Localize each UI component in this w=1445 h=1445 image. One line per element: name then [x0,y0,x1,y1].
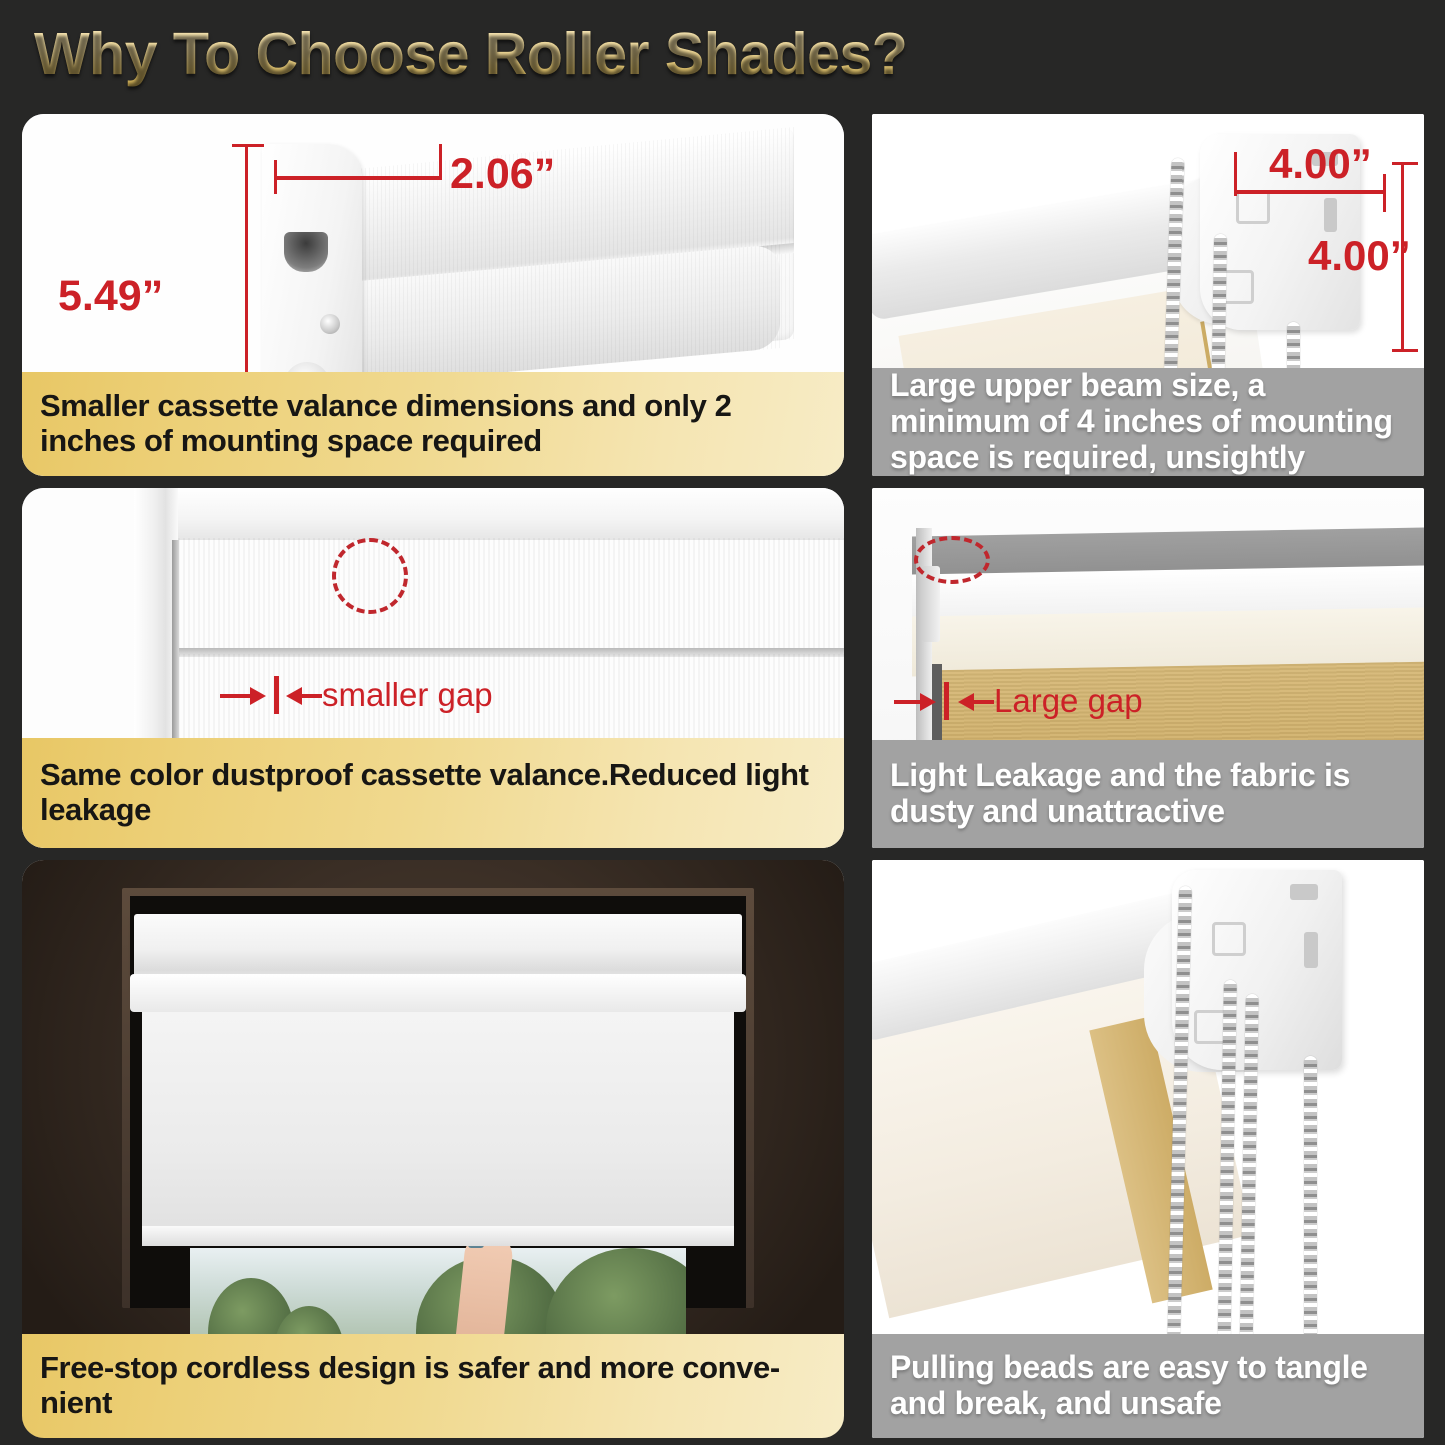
cassette-valance-lip [130,974,746,1012]
width-dim-tick-left [1234,152,1237,196]
shade-valance [178,538,844,654]
width-dimension-label: 2.06” [450,150,555,199]
panel-large-upper-beam: 4.00” 4.00” Large upper beam size, a min… [872,114,1424,476]
bracket-slot-icon [284,232,328,272]
screw-icon [320,314,340,334]
window-frame-top [134,488,844,540]
window-recess [130,896,746,1308]
panel-dustproof-valance: smaller gap Same color dustproof cassett… [22,488,844,848]
height-dimension-label: 5.49” [58,272,163,321]
shade-fabric [142,1012,734,1242]
panel-caption-text: Smaller cassette valance dimensions and … [40,389,828,458]
bracket-notch-icon [1290,884,1318,900]
width-dim-tick-right [439,144,442,180]
panel-caption-bar: Free-stop cordless design is safer and m… [22,1334,844,1438]
bracket-symbol-icon [1236,190,1270,224]
panel-pulling-beads: Pulling beads are easy to tangle and bre… [872,860,1424,1438]
gap-callout-label: Large gap [994,682,1143,720]
gap-arrow-stem-left [220,694,252,698]
gap-arrow-stem-right [972,700,994,704]
height-dim-tick-top [1392,162,1418,165]
bracket-slot-icon [1324,198,1337,232]
bracket-slot-icon [1304,932,1318,968]
gap-highlight-circle [914,536,990,584]
width-dimension-label: 4.00” [1269,140,1372,188]
width-dim-line [274,176,442,180]
panel-cordless-design: Free-stop cordless design is safer and m… [22,860,844,1438]
comparison-grid: 2.06” 5.49” Smaller cassette valance dim… [0,108,1445,1445]
gap-callout-label: smaller gap [322,676,493,714]
panel-caption-text: Same color dustproof cassette valance.Re… [40,758,828,827]
height-dim-tick-bottom [1392,349,1418,352]
width-dim-tick-left [274,160,277,194]
panel-caption-text: Light Leakage and the fabric is dusty an… [890,758,1408,830]
shade-hem-bar [142,1226,734,1246]
page-header: Why To Choose Roller Shades? Why To Choo… [0,0,1445,108]
panel-cassette-dimensions: 2.06” 5.49” Smaller cassette valance dim… [22,114,844,476]
panel-caption-text: Free-stop cordless design is safer and m… [40,1351,828,1420]
panel-caption-bar: Same color dustproof cassette valance.Re… [22,738,844,848]
width-dim-tick-right [1383,174,1386,212]
panel-caption-bar: Light Leakage and the fabric is dusty an… [872,740,1424,848]
height-dimension-label: 4.00” [1308,232,1411,280]
panel-caption-bar: Pulling beads are easy to tangle and bre… [872,1334,1424,1438]
gap-arrow-stem-left [894,700,922,704]
panel-caption-text: Pulling beads are easy to tangle and bre… [890,1350,1408,1422]
gap-arrow-right-icon [920,693,936,711]
gap-arrow-right-icon [250,687,266,705]
width-dim-line [1234,190,1386,194]
page-title: Why To Choose Roller Shades? [34,20,907,88]
height-dim-tick-top [232,144,264,147]
panel-caption-bar: Large upper beam size, a minimum of 4 in… [872,368,1424,476]
gap-arrow-stem-right [300,694,322,698]
gap-marker [274,676,279,714]
panel-caption-text: Large upper beam size, a minimum of 4 in… [890,368,1408,475]
gap-marker [944,682,949,720]
bracket-symbol-icon [1212,922,1246,956]
window-frame [122,888,754,1308]
panel-caption-bar: Smaller cassette valance dimensions and … [22,372,844,476]
panel-light-leakage: Large gap Light Leakage and the fabric i… [872,488,1424,848]
gap-highlight-circle [332,538,408,614]
